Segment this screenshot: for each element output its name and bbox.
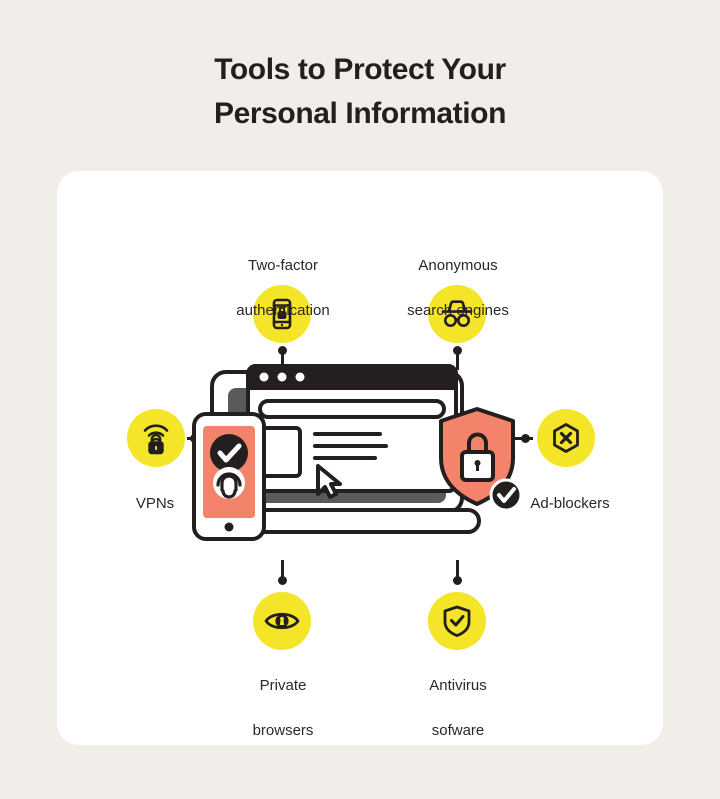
label-line-1: Two-factor — [183, 255, 383, 278]
label-line-2: browsers — [183, 720, 383, 743]
icon-bubble-private-browsers[interactable] — [253, 592, 311, 650]
connector-line-private-browsers — [281, 560, 284, 580]
label-line-1: Private — [183, 675, 383, 698]
wifi-lock-icon — [140, 421, 172, 455]
icon-bubble-vpns[interactable] — [127, 409, 185, 467]
label-line-2: authentication — [183, 300, 383, 323]
infographic-page: Tools to Protect Your Personal Informati… — [0, 0, 720, 799]
label-line-1: Ad-blockers — [505, 493, 635, 516]
page-title-line-2: Personal Information — [0, 92, 720, 136]
label-line-2: sofware — [358, 720, 558, 743]
label-ad-blockers: Ad-blockers — [505, 470, 635, 538]
label-private-browsers: Private browsers — [183, 652, 383, 765]
shield-check-icon — [441, 604, 473, 638]
label-line-2: search engines — [358, 300, 558, 323]
eye-keyhole-icon — [263, 607, 301, 635]
connector-line-antivirus — [456, 560, 459, 580]
laptop-phone-shield-illustration — [190, 358, 530, 563]
label-line-1: Antivirus — [358, 675, 558, 698]
page-title-line-1: Tools to Protect Your — [0, 48, 720, 92]
label-line-1: Anonymous — [358, 255, 558, 278]
icon-bubble-antivirus-software[interactable] — [428, 592, 486, 650]
label-vpns: VPNs — [100, 470, 210, 538]
label-antivirus-software: Antivirus sofware — [358, 652, 558, 765]
hexagon-x-icon — [549, 421, 583, 455]
page-title: Tools to Protect Your Personal Informati… — [0, 48, 720, 135]
label-two-factor-authentication: Two-factor authentication — [183, 232, 383, 345]
label-line-1: VPNs — [100, 493, 210, 516]
icon-bubble-ad-blockers[interactable] — [537, 409, 595, 467]
label-anonymous-search-engines: Anonymous search engines — [358, 232, 558, 345]
